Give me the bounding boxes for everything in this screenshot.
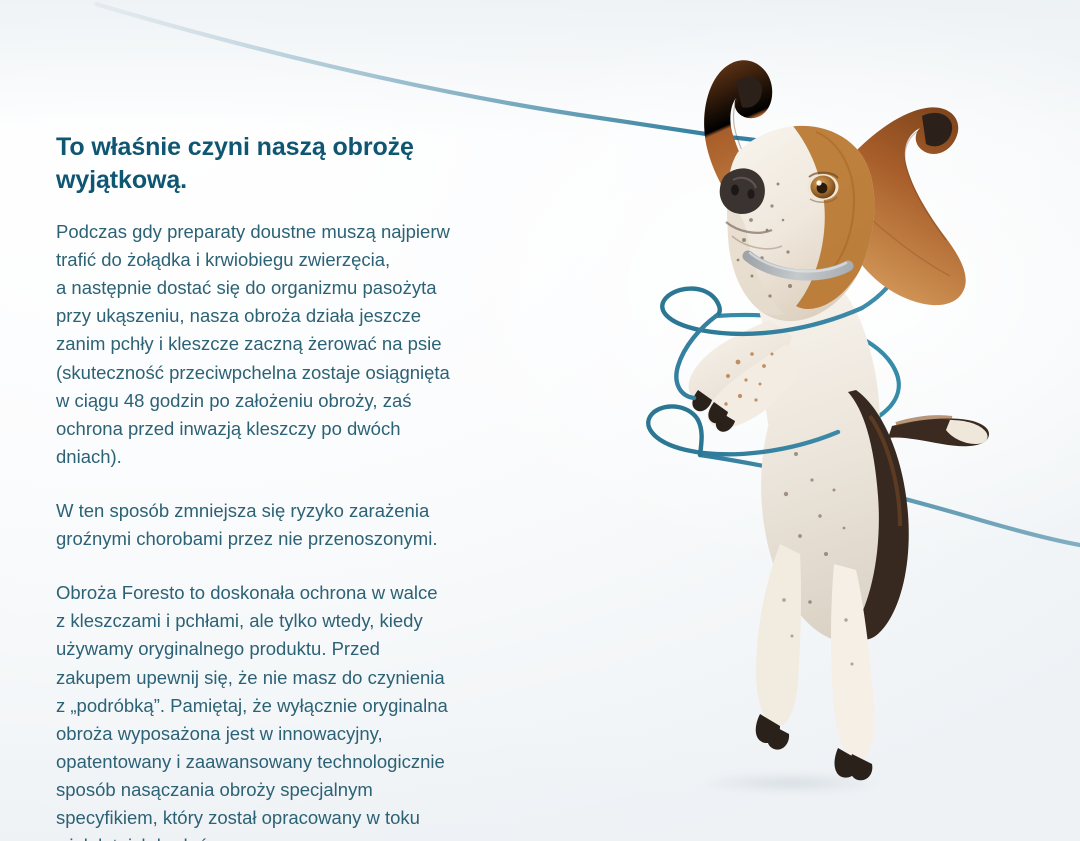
dog-tail [888,417,989,446]
body-paragraph-1: Podczas gdy preparaty doustne muszą najp… [56,218,526,471]
dog-illustration [620,24,1040,784]
dog-head [720,119,878,321]
dog-nose [720,168,765,214]
body-paragraph-3: Obroża Foresto to doskonała ochrona w wa… [56,579,526,841]
text-column: To właśnie czyni naszą obrożę wyjątkową.… [56,131,526,841]
dog-photo-basset-hound [620,24,1040,784]
hind-leg-left [756,544,801,726]
body-paragraph-2: W ten sposób zmniejsza się ryzyko zaraże… [56,497,526,553]
page-title: To właśnie czyni naszą obrożę wyjątkową. [56,131,526,196]
promo-page: To właśnie czyni naszą obrożę wyjątkową.… [0,0,1080,841]
